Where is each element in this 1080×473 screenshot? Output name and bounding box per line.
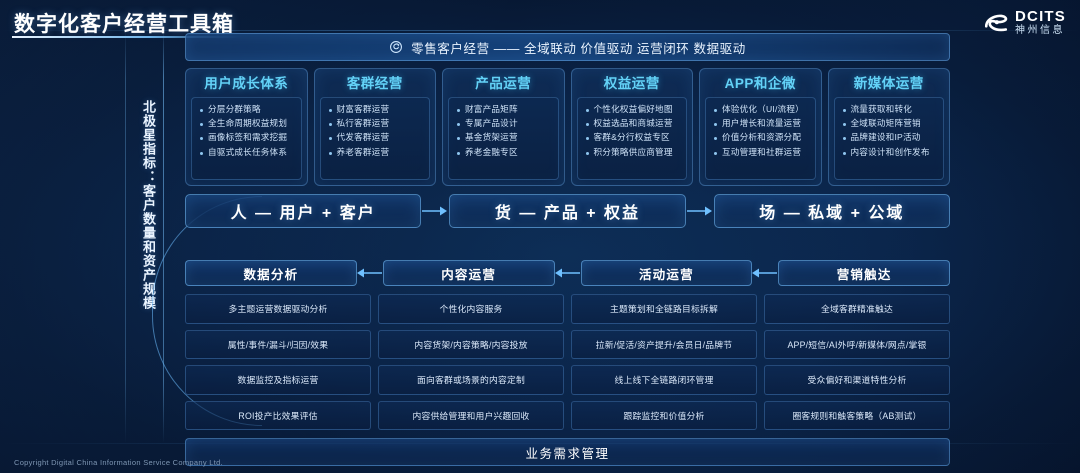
card-bullet-label: 自驱式成长任务体系 bbox=[208, 147, 287, 158]
bullet-dot-icon bbox=[843, 152, 846, 155]
bullet-dot-icon bbox=[329, 152, 332, 155]
capability-card[interactable]: 新媒体运营流量获取和转化全域联动矩阵营销品牌建设和IP活动内容设计和创作发布 bbox=[828, 68, 951, 186]
card-bullet: 个性化权益偏好地图 bbox=[582, 104, 683, 115]
card-body: 分层分群策略全生命周期权益规划画像标签和需求挖掘自驱式成长任务体系 bbox=[191, 97, 302, 180]
bullet-dot-icon bbox=[329, 137, 332, 140]
card-bullet-label: 体验优化（UI/流程） bbox=[722, 104, 804, 115]
card-bullet: 自驱式成长任务体系 bbox=[196, 147, 297, 158]
bullet-dot-icon bbox=[457, 137, 460, 140]
target-swirl-icon bbox=[389, 40, 403, 54]
detail-cell[interactable]: 属性/事件/漏斗/归因/效果 bbox=[185, 330, 371, 360]
detail-cell[interactable]: 内容供给管理和用户兴趣回收 bbox=[378, 401, 564, 431]
card-bullet-label: 养老客群运营 bbox=[337, 147, 390, 158]
card-bullet-label: 权益选品和商城运营 bbox=[594, 118, 673, 129]
card-bullet-label: 价值分析和资源分配 bbox=[722, 132, 801, 143]
detail-column: 多主题运营数据驱动分析属性/事件/漏斗/归因/效果数据监控及指标运营ROI投产比… bbox=[185, 294, 371, 430]
capability-card[interactable]: 产品运营财富产品矩阵专属产品设计基金货架运营养老金融专区 bbox=[442, 68, 565, 186]
flow-row: 人 — 用户 + 客户货 — 产品 + 权益场 — 私域 + 公域 bbox=[185, 193, 950, 229]
capability-card[interactable]: APP和企微体验优化（UI/流程）用户增长和流量运营价值分析和资源分配互动管理和… bbox=[699, 68, 822, 186]
bullet-dot-icon bbox=[843, 123, 846, 126]
capability-card[interactable]: 权益运营个性化权益偏好地图权益选品和商城运营客群&分行权益专区积分策略供应商管理 bbox=[571, 68, 694, 186]
arrow-right-icon bbox=[686, 204, 714, 218]
section-header[interactable]: 内容运营 bbox=[383, 260, 555, 286]
card-bullet: 专属产品设计 bbox=[453, 118, 554, 129]
card-bullet-label: 个性化权益偏好地图 bbox=[594, 104, 673, 115]
detail-cell[interactable]: 受众偏好和渠道特性分析 bbox=[764, 365, 950, 395]
bullet-dot-icon bbox=[457, 109, 460, 112]
bullet-dot-icon bbox=[586, 109, 589, 112]
dcits-swirl-icon bbox=[983, 10, 1009, 36]
card-bullet: 分层分群策略 bbox=[196, 104, 297, 115]
bullet-dot-icon bbox=[843, 109, 846, 112]
card-bullet: 权益选品和商城运营 bbox=[582, 118, 683, 129]
vertical-rule-left bbox=[125, 28, 126, 443]
card-bullet: 画像标签和需求挖掘 bbox=[196, 132, 297, 143]
capability-card[interactable]: 用户成长体系分层分群策略全生命周期权益规划画像标签和需求挖掘自驱式成长任务体系 bbox=[185, 68, 308, 186]
detail-cell[interactable]: 全域客群精准触达 bbox=[764, 294, 950, 324]
card-bullet: 品牌建设和IP活动 bbox=[839, 132, 940, 143]
detail-cell[interactable]: 多主题运营数据驱动分析 bbox=[185, 294, 371, 324]
card-bullet-label: 私行客群运营 bbox=[337, 118, 390, 129]
detail-cell[interactable]: 内容货架/内容策略/内容投放 bbox=[378, 330, 564, 360]
card-body: 个性化权益偏好地图权益选品和商城运营客群&分行权益专区积分策略供应商管理 bbox=[577, 97, 688, 180]
logo-wordmark: DCITS bbox=[1015, 9, 1066, 24]
card-bullet: 内容设计和创作发布 bbox=[839, 147, 940, 158]
card-bullet: 体验优化（UI/流程） bbox=[710, 104, 811, 115]
detail-cell[interactable]: ROI投产比效果评估 bbox=[185, 401, 371, 431]
detail-cell[interactable]: 主题策划和全链路目标拆解 bbox=[571, 294, 757, 324]
logo-subtitle: 神州信息 bbox=[1015, 26, 1066, 36]
card-body: 体验优化（UI/流程）用户增长和流量运营价值分析和资源分配互动管理和社群运营 bbox=[705, 97, 816, 180]
bullet-dot-icon bbox=[200, 123, 203, 126]
section-header[interactable]: 营销触达 bbox=[778, 260, 950, 286]
brand-logo: DCITS 神州信息 bbox=[983, 9, 1066, 36]
detail-cell[interactable]: 数据监控及指标运营 bbox=[185, 365, 371, 395]
card-bullet: 财富客群运营 bbox=[325, 104, 426, 115]
bullet-dot-icon bbox=[457, 152, 460, 155]
detail-cell[interactable]: APP/短信/AI外呼/新媒体/网点/掌银 bbox=[764, 330, 950, 360]
card-bullet-label: 全生命周期权益规划 bbox=[208, 118, 287, 129]
bullet-dot-icon bbox=[714, 123, 717, 126]
card-bullet: 用户增长和流量运营 bbox=[710, 118, 811, 129]
card-bullet: 全生命周期权益规划 bbox=[196, 118, 297, 129]
arrow-left-icon bbox=[752, 266, 778, 280]
bullet-dot-icon bbox=[329, 109, 332, 112]
flow-box[interactable]: 场 — 私域 + 公域 bbox=[714, 194, 950, 228]
card-bullet-label: 客群&分行权益专区 bbox=[594, 132, 670, 143]
arrow-right-icon bbox=[421, 204, 449, 218]
card-body: 流量获取和转化全域联动矩阵营销品牌建设和IP活动内容设计和创作发布 bbox=[834, 97, 945, 180]
card-body: 财富客群运营私行客群运营代发客群运营养老客群运营 bbox=[320, 97, 431, 180]
card-bullet-label: 财富客群运营 bbox=[337, 104, 390, 115]
card-bullet-label: 积分策略供应商管理 bbox=[594, 147, 673, 158]
arrow-left-icon bbox=[357, 266, 383, 280]
bullet-dot-icon bbox=[200, 152, 203, 155]
card-bullet: 养老客群运营 bbox=[325, 147, 426, 158]
bullet-dot-icon bbox=[200, 137, 203, 140]
capability-card[interactable]: 客群经营财富客群运营私行客群运营代发客群运营养老客群运营 bbox=[314, 68, 437, 186]
card-bullet: 代发客群运营 bbox=[325, 132, 426, 143]
bullet-dot-icon bbox=[329, 123, 332, 126]
detail-cell[interactable]: 拉新/促活/资产提升/会员日/品牌节 bbox=[571, 330, 757, 360]
bullet-dot-icon bbox=[586, 123, 589, 126]
detail-cell[interactable]: 线上线下全链路闭环管理 bbox=[571, 365, 757, 395]
card-title: 权益运营 bbox=[604, 73, 660, 95]
card-bullet-label: 专属产品设计 bbox=[465, 118, 518, 129]
bullet-dot-icon bbox=[200, 109, 203, 112]
card-bullet-label: 用户增长和流量运营 bbox=[722, 118, 801, 129]
card-bullet-label: 品牌建设和IP活动 bbox=[851, 132, 921, 143]
vertical-rule-right bbox=[163, 28, 164, 443]
section-header[interactable]: 活动运营 bbox=[581, 260, 753, 286]
detail-cell[interactable]: 面向客群或场景的内容定制 bbox=[378, 365, 564, 395]
card-title: 用户成长体系 bbox=[204, 73, 288, 95]
card-bullet: 积分策略供应商管理 bbox=[582, 147, 683, 158]
card-bullet-label: 互动管理和社群运营 bbox=[722, 147, 801, 158]
card-bullet: 私行客群运营 bbox=[325, 118, 426, 129]
bottom-bar: 业务需求管理 bbox=[185, 438, 950, 466]
card-title: 产品运营 bbox=[475, 73, 531, 95]
card-title: 新媒体运营 bbox=[854, 73, 924, 95]
card-title: 客群经营 bbox=[347, 73, 403, 95]
detail-column: 个性化内容服务内容货架/内容策略/内容投放面向客群或场景的内容定制内容供给管理和… bbox=[378, 294, 564, 430]
banner-text: 零售客户经营 —— 全域联动 价值驱动 运营闭环 数据驱动 bbox=[411, 38, 746, 57]
card-bullet: 流量获取和转化 bbox=[839, 104, 940, 115]
card-title: APP和企微 bbox=[725, 73, 796, 95]
flow-box[interactable]: 人 — 用户 + 客户 bbox=[185, 194, 421, 228]
section-header[interactable]: 数据分析 bbox=[185, 260, 357, 286]
card-bullet: 价值分析和资源分配 bbox=[710, 132, 811, 143]
bullet-dot-icon bbox=[457, 123, 460, 126]
card-bullet: 基金货架运营 bbox=[453, 132, 554, 143]
bullet-dot-icon bbox=[714, 109, 717, 112]
card-bullet-label: 基金货架运营 bbox=[465, 132, 518, 143]
bullet-dot-icon bbox=[586, 137, 589, 140]
arrow-left-icon bbox=[555, 266, 581, 280]
bullet-dot-icon bbox=[714, 137, 717, 140]
card-bullet: 全域联动矩阵营销 bbox=[839, 118, 940, 129]
card-bullet: 养老金融专区 bbox=[453, 147, 554, 158]
capability-cards: 用户成长体系分层分群策略全生命周期权益规划画像标签和需求挖掘自驱式成长任务体系客… bbox=[185, 68, 950, 186]
card-bullet-label: 全域联动矩阵营销 bbox=[851, 118, 921, 129]
card-bullet-label: 流量获取和转化 bbox=[851, 104, 913, 115]
bullet-dot-icon bbox=[843, 137, 846, 140]
detail-column: 主题策划和全链路目标拆解拉新/促活/资产提升/会员日/品牌节线上线下全链路闭环管… bbox=[571, 294, 757, 430]
detail-cell[interactable]: 跟踪监控和价值分析 bbox=[571, 401, 757, 431]
bullet-dot-icon bbox=[586, 152, 589, 155]
detail-column: 全域客群精准触达APP/短信/AI外呼/新媒体/网点/掌银受众偏好和渠道特性分析… bbox=[764, 294, 950, 430]
card-bullet-label: 代发客群运营 bbox=[337, 132, 390, 143]
card-bullet: 客群&分行权益专区 bbox=[582, 132, 683, 143]
copyright-text: Copyright Digital China Information Serv… bbox=[14, 458, 223, 467]
card-bullet-label: 画像标签和需求挖掘 bbox=[208, 132, 287, 143]
card-bullet: 互动管理和社群运营 bbox=[710, 147, 811, 158]
detail-cell[interactable]: 个性化内容服务 bbox=[378, 294, 564, 324]
bullet-dot-icon bbox=[714, 152, 717, 155]
section-header-row: 数据分析内容运营活动运营营销触达 bbox=[185, 259, 950, 287]
card-bullet-label: 分层分群策略 bbox=[208, 104, 261, 115]
card-body: 财富产品矩阵专属产品设计基金货架运营养老金融专区 bbox=[448, 97, 559, 180]
detail-cell[interactable]: 圈客规则和触客策略（AB测试） bbox=[764, 401, 950, 431]
card-bullet-label: 内容设计和创作发布 bbox=[851, 147, 930, 158]
detail-grid: 多主题运营数据驱动分析属性/事件/漏斗/归因/效果数据监控及指标运营ROI投产比… bbox=[185, 294, 950, 430]
flow-box[interactable]: 货 — 产品 + 权益 bbox=[449, 194, 685, 228]
headline-banner: 零售客户经营 —— 全域联动 价值驱动 运营闭环 数据驱动 bbox=[185, 33, 950, 61]
card-bullet-label: 养老金融专区 bbox=[465, 147, 518, 158]
card-bullet: 财富产品矩阵 bbox=[453, 104, 554, 115]
card-bullet-label: 财富产品矩阵 bbox=[465, 104, 518, 115]
north-star-label: 北极星指标：客户数量和资产规模 bbox=[133, 100, 157, 445]
